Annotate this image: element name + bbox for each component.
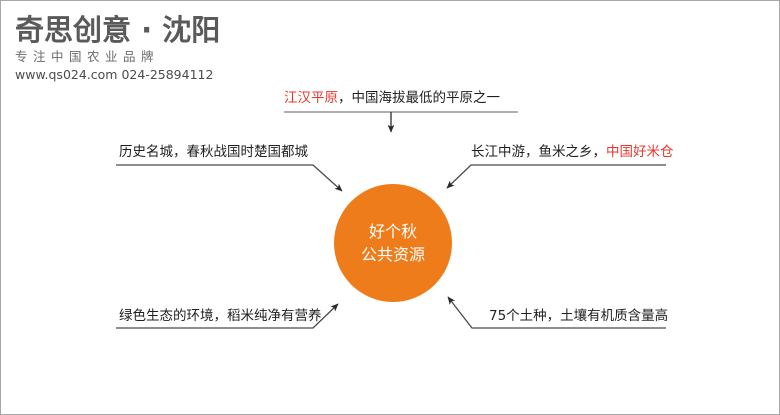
connector-top — [284, 112, 518, 132]
node-label-left-top: 历史名城，春秋战国时楚国都城 — [119, 143, 308, 161]
node-top-rest: ，中国海拔最低的平原之一 — [338, 90, 500, 106]
connector-left-top — [116, 165, 342, 191]
node-label-left-bottom: 绿色生态的环境，稻米纯净有营养 — [119, 307, 322, 325]
node-top-highlight: 江汉平原 — [284, 90, 338, 106]
node-right-top-highlight: 中国好米仓 — [606, 144, 674, 160]
center-line-1: 好个秋 — [369, 220, 417, 243]
infographic-canvas: 奇思创意 · 沈阳 专注中国农业品牌 www.qs024.com 024-258… — [0, 0, 780, 415]
node-label-right-bottom: 75个土种，土壤有机质含量高 — [489, 307, 668, 325]
center-line-2: 公共资源 — [361, 243, 425, 266]
center-node-circle: 好个秋 公共资源 — [334, 184, 452, 302]
connector-right-top — [447, 165, 666, 188]
node-label-top: 江汉平原，中国海拔最低的平原之一 — [284, 89, 500, 107]
node-label-right-top: 长江中游，鱼米之乡，中国好米仓 — [471, 143, 674, 161]
node-right-top-plain: 长江中游，鱼米之乡， — [471, 144, 606, 160]
